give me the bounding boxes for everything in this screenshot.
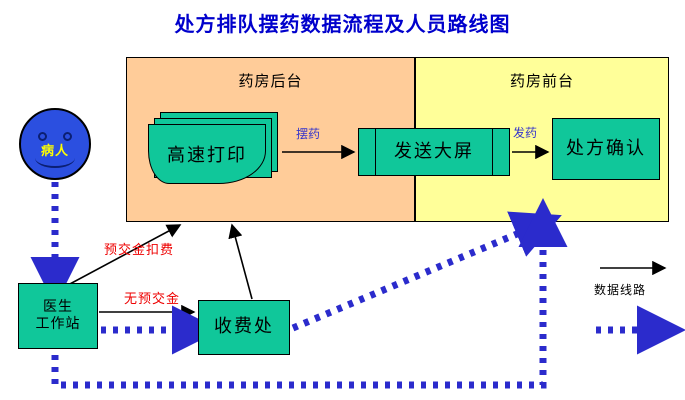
zone-pharmacy-backend-label: 药房后台 bbox=[127, 70, 414, 91]
edge-label-no-prepay: 无预交金 bbox=[124, 288, 180, 307]
node-prescription-confirm[interactable]: 处方确认 bbox=[552, 118, 660, 180]
node-doctor-workstation-label-line2: 工作站 bbox=[36, 316, 81, 334]
page-title: 处方排队摆药数据流程及人员路线图 bbox=[0, 8, 685, 37]
legend-data-route-label: 数据线路 bbox=[594, 281, 646, 298]
edge-cashier-to-backend bbox=[232, 225, 252, 299]
zone-pharmacy-frontdesk-label: 药房前台 bbox=[416, 70, 668, 91]
edge-label-issue: 发药 bbox=[513, 124, 537, 141]
node-cashier-label: 收费处 bbox=[214, 316, 274, 339]
diagram-canvas: 处方排队摆药数据流程及人员路线图 药房后台 药房前台 bbox=[0, 0, 685, 400]
node-send-to-bigscreen[interactable]: 发送大屏 bbox=[358, 128, 510, 176]
node-send-to-bigscreen-label: 发送大屏 bbox=[394, 141, 474, 164]
edge-label-dispense: 摆药 bbox=[296, 125, 320, 142]
edge-cashier-to-frontdesk-person bbox=[293, 226, 536, 328]
node-doctor-workstation-label-line1: 医生 bbox=[43, 299, 73, 317]
node-cashier[interactable]: 收费处 bbox=[198, 300, 290, 355]
node-patient-label: 病人 bbox=[21, 140, 89, 159]
bigscreen-right-bar bbox=[492, 129, 493, 175]
node-high-speed-print[interactable]: 高速打印 bbox=[148, 112, 278, 184]
node-patient[interactable]: 病人 bbox=[19, 108, 91, 180]
edge-label-prepay-deduct: 预交金扣费 bbox=[104, 239, 174, 258]
node-prescription-confirm-label: 处方确认 bbox=[566, 138, 646, 161]
bigscreen-left-bar bbox=[375, 129, 376, 175]
node-doctor-workstation[interactable]: 医生 工作站 bbox=[18, 283, 98, 349]
node-high-speed-print-label: 高速打印 bbox=[148, 124, 266, 184]
